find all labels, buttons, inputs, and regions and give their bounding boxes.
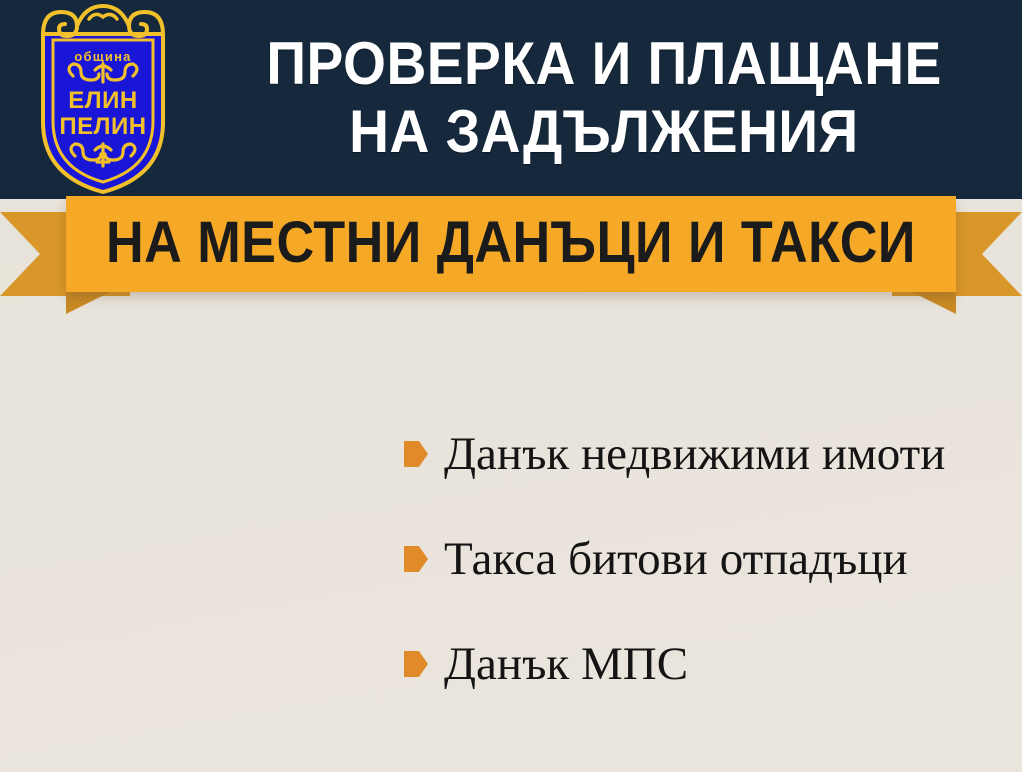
stamp-perforation [80,629,99,648]
stamp-perforation [84,544,103,563]
stamp-perforation [369,505,386,522]
stamp-perforation [143,531,162,550]
stamp-perforation [1,335,18,352]
stamp-paper [31,327,202,498]
stamp-perforation [364,430,381,447]
stamp-perforation [305,718,324,737]
list-item-label: Такса битови отпадъци [444,533,908,585]
stamp-perforation [318,381,335,398]
stamp-perforation [99,507,116,524]
list-item-label: Данък недвижими имоти [444,428,945,480]
stamp-perforation [366,460,383,477]
stamp-perforation [330,550,347,567]
stamp-perforation [101,732,120,751]
stamp-perforation [6,395,23,412]
stamp-perforation [205,347,222,364]
stamp-perforation [243,386,260,403]
stamp-perforation [83,644,102,663]
stamp-perforation [144,503,161,520]
stamp-perforation [367,475,384,492]
ribbon-subtitle: НА МЕСТНИ ДАНЪЦИ И ТАКСИ [106,214,916,275]
stamp-perforation [39,512,56,529]
bullet-arrow-icon [404,651,428,677]
stamp-perforation [363,415,380,432]
bullet-arrow-icon [404,546,428,572]
ribbon-banner: НА МЕСТНИ ДАНЪЦИ И ТАКСИ [0,196,1022,316]
stamp-perforation [206,362,223,379]
stamp-perforation [114,537,133,556]
stamp-perforation [315,551,332,568]
stamp-perforation [158,501,175,518]
stamp-perforation [98,717,117,736]
stamp-perforation [228,387,245,404]
stamp-perforation [114,505,131,522]
stamp-perforation [73,600,92,619]
logo-municipality-word: община [74,49,131,64]
stamp-perforation [10,440,27,457]
stamp-perforation [300,552,317,569]
stamp-perforation [370,520,387,537]
stamp-perforation [158,528,177,547]
stamp-perforation [207,377,224,394]
stamp-perforation [258,385,275,402]
page-title-line2: НА ЗАДЪЛЖЕНИЯ [349,98,859,166]
stamp-perforation [187,522,206,541]
header-bar: община ЕЛИН ПЕЛИН [0,0,1022,199]
header-title-block: ПРОВЕРКА И ПЛАЩАНЕ НА ЗАДЪЛЖЕНИЯ [186,0,1022,199]
stamp-perforation [11,454,28,471]
list-item: Такса битови отпадъци [404,530,1004,588]
stamp-perforation [13,469,30,486]
stamp-perforation [7,410,24,427]
stamp-perforation [362,400,379,417]
stamp-perforation [128,534,147,553]
stamp-perforation [67,570,86,589]
stamp-perforation [368,490,385,507]
municipality-logo: община ЕЛИН ПЕЛИН [33,4,173,194]
stamp-perforation [371,535,388,552]
logo-name-line2: ПЕЛИН [59,113,146,140]
list-item: Данък недвижими имоти [404,425,1004,483]
stamp-perforation [188,499,205,516]
stamp-card-property-tax [8,304,227,523]
stamp-perforation [203,332,220,349]
stamp-perforation [361,385,378,402]
stamp-perforation [84,508,101,525]
stamp-paper [99,540,301,742]
stamp-perforation [89,673,108,692]
stamp-perforation [303,382,320,399]
trash-bin-icon [241,424,340,530]
stamp-perforation [3,365,20,382]
car-front-icon [127,577,274,705]
stamp-perforation [173,500,190,517]
stamp-perforation [333,380,350,397]
stamp-perforation [14,484,31,501]
stamp-perforation [69,509,86,526]
stamp-perforation [99,541,118,560]
stamp-perforation [2,350,19,367]
stamp-perforation [5,380,22,397]
house-icon [53,353,180,473]
stamp-perforation [54,510,71,527]
ribbon-bar: НА МЕСТНИ ДАНЪЦИ И ТАКСИ [66,196,956,292]
stamp-card-vehicle-tax [72,513,328,769]
tax-type-list: Данък недвижими имоти Такса битови отпад… [404,425,1004,740]
coat-of-arms-shield-icon: община ЕЛИН ПЕЛИН [33,4,173,194]
stamp-perforation [273,384,290,401]
stamp-perforation [9,425,26,442]
stamp-perforation [95,702,114,721]
poster-canvas: община ЕЛИН ПЕЛИН [0,0,1022,772]
stamp-perforation [129,504,146,521]
list-item-label: Данък МПС [444,638,688,690]
stamp-perforation [76,614,95,633]
stamp-perforation [86,658,105,677]
stamp-perforation [365,445,382,462]
list-item: Данък МПС [404,635,1004,693]
stamp-perforation [202,317,219,334]
stamp-perforation [360,548,377,565]
stamp-perforation [92,688,111,707]
bullet-arrow-icon [404,441,428,467]
stamp-perforation [70,585,89,604]
stamp-perforation [172,525,191,544]
stamp-perforation [345,549,362,566]
page-title-line1: ПРОВЕРКА И ПЛАЩАНЕ [266,30,941,98]
logo-name-line1: ЕЛИН [68,87,137,114]
stamp-perforation [288,383,305,400]
